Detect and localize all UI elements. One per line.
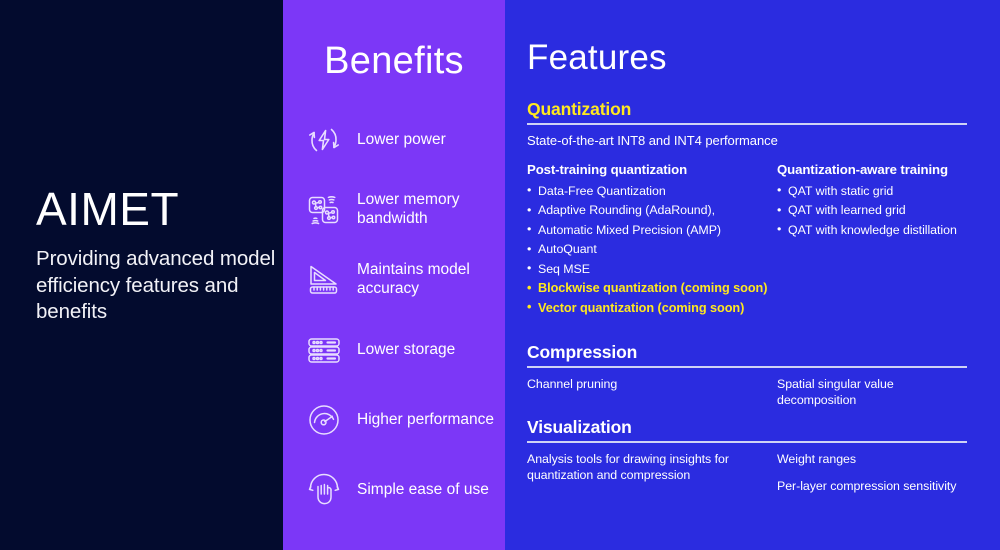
aimet-overview-slide: AIMET Providing advanced model efficienc… [0,0,1000,550]
visualization-item: Weight ranges [777,452,967,468]
visualization-item: Analysis tools for drawing insights for … [527,452,777,484]
visualization-right-column: Weight ranges Per-layer compression sens… [777,452,967,495]
section-quantization: Quantization State-of-the-art INT8 and I… [527,100,967,319]
section-title-compression: Compression [527,343,967,361]
compression-item: Spatial singular value decomposition [777,377,967,409]
title-block: AIMET Providing advanced model efficienc… [36,186,276,326]
list-item: Vector quantization (coming soon) [527,299,777,319]
list-item: AutoQuant [527,240,777,259]
column-heading: Post-training quantization [527,162,777,177]
benefit-label: Higher performance [353,411,494,430]
benefit-label: Lower storage [353,341,455,360]
quantization-aware-training-list: QAT with static grid QAT with learned gr… [777,182,967,240]
quantization-aware-training-column: Quantization-aware training QAT with sta… [777,162,967,319]
compression-item: Channel pruning [527,377,777,393]
section-title-visualization: Visualization [527,418,967,436]
list-item: Seq MSE [527,260,777,279]
list-item: QAT with learned grid [777,201,967,220]
list-item: Blockwise quantization (coming soon) [527,279,777,299]
visualization-item: Per-layer compression sensitivity [777,479,967,495]
post-training-quantization-list: Data-Free Quantization Adaptive Rounding… [527,182,777,319]
benefits-heading: Benefits [283,40,505,83]
benefit-label: Lower power [353,131,446,150]
compression-columns: Channel pruning Spatial singular value d… [527,377,967,409]
benefits-panel: Benefits Lower power [283,0,505,550]
hand-icon [295,461,353,519]
list-item: Data-Free Quantization [527,182,777,201]
section-visualization: Visualization Analysis tools for drawing… [527,418,967,495]
visualization-columns: Analysis tools for drawing insights for … [527,452,967,495]
benefit-item-maintains-model-accuracy: Maintains model accuracy [295,245,505,315]
section-title-quantization: Quantization [527,100,967,118]
benefit-item-lower-memory-bandwidth: Lower memory bandwidth [295,175,505,245]
list-item: QAT with static grid [777,182,967,201]
section-divider [527,366,967,368]
features-heading: Features [527,38,667,78]
speedometer-icon [295,391,353,449]
benefit-label: Maintains model accuracy [353,261,505,299]
title-panel: AIMET Providing advanced model efficienc… [0,0,283,550]
compression-right-column: Spatial singular value decomposition [777,377,967,409]
visualization-left-column: Analysis tools for drawing insights for … [527,452,777,495]
quantization-lead-text: State-of-the-art INT8 and INT4 performan… [527,133,967,148]
section-divider [527,441,967,443]
list-item: Automatic Mixed Precision (AMP) [527,221,777,240]
brand-tagline: Providing advanced model efficiency feat… [36,246,276,326]
benefit-label: Simple ease of use [353,481,489,500]
benefit-item-lower-power: Lower power [295,105,505,175]
list-item: Adaptive Rounding (AdaRound), [527,201,777,220]
server-storage-icon [295,321,353,379]
memory-bandwidth-icon [295,181,353,239]
section-divider [527,123,967,125]
compression-left-column: Channel pruning [527,377,777,409]
list-item: QAT with knowledge distillation [777,221,967,240]
post-training-quantization-column: Post-training quantization Data-Free Qua… [527,162,777,319]
column-heading: Quantization-aware training [777,162,967,177]
section-compression: Compression Channel pruning Spatial sing… [527,343,967,409]
set-square-ruler-icon [295,251,353,309]
benefits-list: Lower power [295,105,505,525]
power-cycle-icon [295,111,353,169]
benefit-item-lower-storage: Lower storage [295,315,505,385]
brand-name: AIMET [36,186,276,232]
quantization-columns: Post-training quantization Data-Free Qua… [527,162,967,319]
benefit-item-simple-ease-of-use: Simple ease of use [295,455,505,525]
benefit-label: Lower memory bandwidth [353,191,505,229]
features-panel: Features Quantization State-of-the-art I… [505,0,1000,550]
benefit-item-higher-performance: Higher performance [295,385,505,455]
